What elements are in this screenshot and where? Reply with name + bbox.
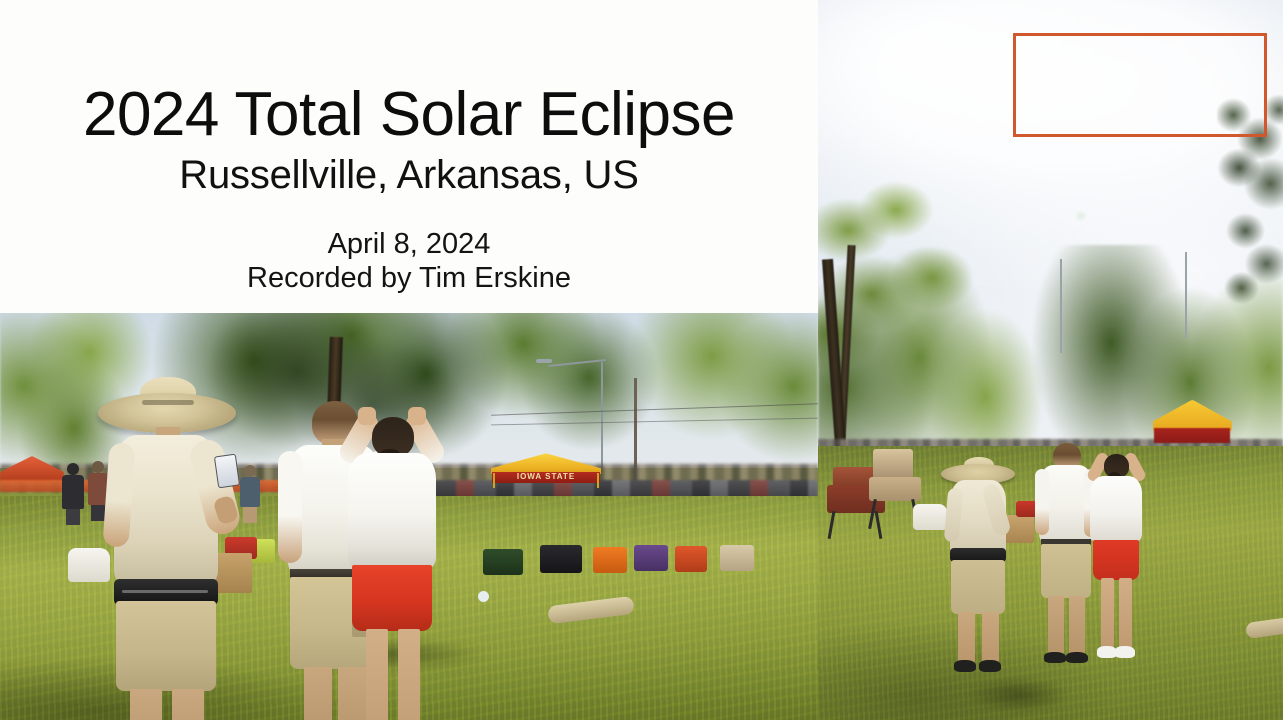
shorts: [1041, 544, 1091, 598]
ball-on-grass: [478, 591, 489, 602]
shorts: [951, 560, 1005, 614]
shoe: [954, 660, 976, 672]
bystander-with-hat: [240, 465, 260, 523]
leg: [304, 667, 332, 720]
chair-leg: [828, 511, 836, 539]
street-light-pole: [1060, 259, 1062, 353]
seated-spectator: [634, 545, 668, 589]
eclipse-crowd-wide-view: [818, 0, 1283, 720]
highlight-rectangle[interactable]: [1013, 33, 1267, 137]
legs: [243, 507, 257, 523]
leg: [1101, 578, 1114, 650]
man-in-bucket-hat: [112, 393, 222, 720]
white-bag: [68, 548, 110, 582]
leg: [982, 612, 999, 664]
phone-icon: [214, 454, 240, 489]
leg: [172, 689, 204, 720]
seated-spectator: [540, 545, 582, 591]
torso: [348, 453, 436, 569]
page-title: 2024 Total Solar Eclipse: [0, 84, 818, 146]
head: [244, 465, 256, 477]
chair-seat: [869, 477, 921, 501]
tent-canopy: [1153, 400, 1232, 431]
tent-leg: [493, 473, 495, 488]
shoe: [1044, 652, 1066, 663]
left-arm: [278, 451, 302, 563]
man-in-bucket-hat: [948, 464, 1008, 709]
lens-flare-icon: [1076, 211, 1086, 221]
shoe: [1115, 646, 1135, 658]
bystander: [62, 463, 84, 525]
chair-seat: [675, 546, 707, 572]
legs: [66, 509, 80, 525]
vendor-tent: [1153, 400, 1232, 450]
left-arm: [1035, 469, 1049, 535]
shoe: [1097, 646, 1117, 658]
chair-leg: [868, 499, 877, 529]
utility-pole: [1185, 252, 1187, 338]
location-subtitle: Russellville, Arkansas, US: [0, 155, 818, 195]
credit-block: April 8, 2024 Recorded by Tim Erskine: [0, 228, 818, 296]
girl-with-raised-hands: [1090, 450, 1142, 709]
hand: [408, 407, 426, 425]
seated-spectator: [483, 549, 523, 595]
leg: [958, 612, 975, 664]
street-light-pole: [601, 362, 603, 468]
seated-spectator: [593, 547, 627, 591]
tent-valance: [1154, 428, 1230, 443]
chair-seat: [540, 545, 582, 573]
torso: [1090, 476, 1142, 542]
head: [92, 461, 104, 473]
fanny-pack-zipper: [122, 590, 208, 593]
shoe: [979, 660, 1001, 672]
head: [67, 463, 79, 475]
chair-back: [873, 449, 913, 479]
seated-spectator: [675, 546, 707, 590]
leg: [1069, 596, 1085, 656]
title-card: 2024 Total Solar Eclipse Russellville, A…: [0, 0, 818, 313]
tent-label: IOWA STATE: [491, 473, 601, 482]
hat-band: [142, 400, 194, 405]
man-in-white-shirt: [1039, 443, 1093, 709]
leg: [1048, 596, 1064, 656]
hand: [358, 407, 376, 425]
leg: [398, 629, 420, 720]
vendor-tent: IOWA STATE: [491, 453, 601, 488]
chair-seat: [593, 547, 627, 573]
white-bag: [913, 504, 947, 530]
shoe: [1066, 652, 1088, 663]
torso: [62, 475, 84, 509]
chair-seat: [720, 545, 754, 571]
leg: [130, 689, 162, 720]
red-shorts: [352, 565, 432, 631]
recorded-by: Recorded by Tim Erskine: [0, 262, 818, 296]
seated-spectator: [720, 545, 754, 589]
leg: [366, 629, 388, 720]
event-date: April 8, 2024: [0, 228, 818, 262]
torso: [240, 477, 260, 507]
leg: [1119, 578, 1132, 650]
chair-seat: [483, 549, 523, 575]
tent-leg: [597, 473, 599, 488]
legs: [91, 505, 105, 521]
girl-with-raised-hands: [346, 405, 438, 717]
eclipse-slide: IOWA STATE: [0, 0, 1283, 720]
chair-seat: [634, 545, 668, 571]
red-shorts: [1093, 540, 1139, 580]
street-light-head: [536, 359, 552, 363]
shorts: [116, 601, 216, 691]
eclipse-crowd-close-view: IOWA STATE: [0, 313, 818, 720]
